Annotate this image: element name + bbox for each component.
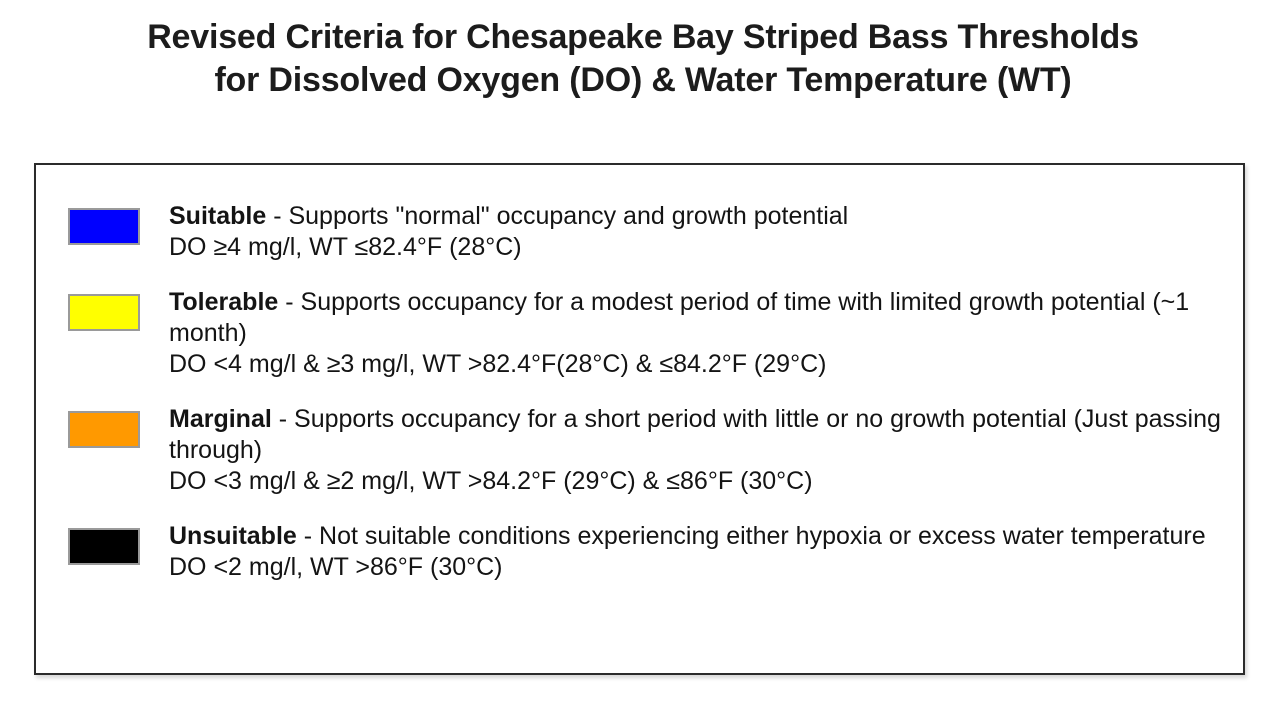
legend-description-unsuitable: - Not suitable conditions experiencing e… [297,522,1206,550]
swatch-cell-suitable [36,201,169,245]
legend-detail-marginal: DO <3 mg/l & ≥2 mg/l, WT >84.2°F (29°C) … [169,466,1221,497]
swatch-cell-tolerable [36,287,169,331]
legend-list: Suitable - Supports "normal" occupancy a… [36,165,1243,583]
legend-detail-suitable: DO ≥4 mg/l, WT ≤82.4°F (28°C) [169,232,1221,263]
legend-description-suitable: - Supports "normal" occupancy and growth… [266,202,848,230]
legend-text-marginal: Marginal - Supports occupancy for a shor… [169,404,1243,497]
color-swatch-marginal [68,411,140,448]
page-title-line-2: for Dissolved Oxygen (DO) & Water Temper… [60,59,1226,102]
legend-panel: Suitable - Supports "normal" occupancy a… [34,163,1245,675]
swatch-cell-unsuitable [36,521,169,565]
legend-text-tolerable: Tolerable - Supports occupancy for a mod… [169,287,1243,380]
page-title: Revised Criteria for Chesapeake Bay Stri… [0,0,1286,102]
legend-term-marginal: Marginal [169,405,272,433]
color-swatch-suitable [68,208,140,245]
legend-description-tolerable: - Supports occupancy for a modest period… [169,288,1189,347]
legend-item-marginal: Marginal - Supports occupancy for a shor… [36,404,1243,497]
color-swatch-tolerable [68,294,140,331]
legend-description-marginal: - Supports occupancy for a short period … [169,405,1221,464]
legend-text-unsuitable: Unsuitable - Not suitable conditions exp… [169,521,1243,583]
legend-detail-unsuitable: DO <2 mg/l, WT >86°F (30°C) [169,552,1221,583]
legend-item-tolerable: Tolerable - Supports occupancy for a mod… [36,287,1243,380]
legend-term-unsuitable: Unsuitable [169,522,297,550]
legend-text-suitable: Suitable - Supports "normal" occupancy a… [169,201,1243,263]
legend-item-unsuitable: Unsuitable - Not suitable conditions exp… [36,521,1243,583]
legend-term-tolerable: Tolerable [169,288,278,316]
legend-detail-tolerable: DO <4 mg/l & ≥3 mg/l, WT >82.4°F(28°C) &… [169,349,1221,380]
legend-term-suitable: Suitable [169,202,266,230]
legend-item-suitable: Suitable - Supports "normal" occupancy a… [36,201,1243,263]
color-swatch-unsuitable [68,528,140,565]
page-title-line-1: Revised Criteria for Chesapeake Bay Stri… [60,16,1226,59]
swatch-cell-marginal [36,404,169,448]
